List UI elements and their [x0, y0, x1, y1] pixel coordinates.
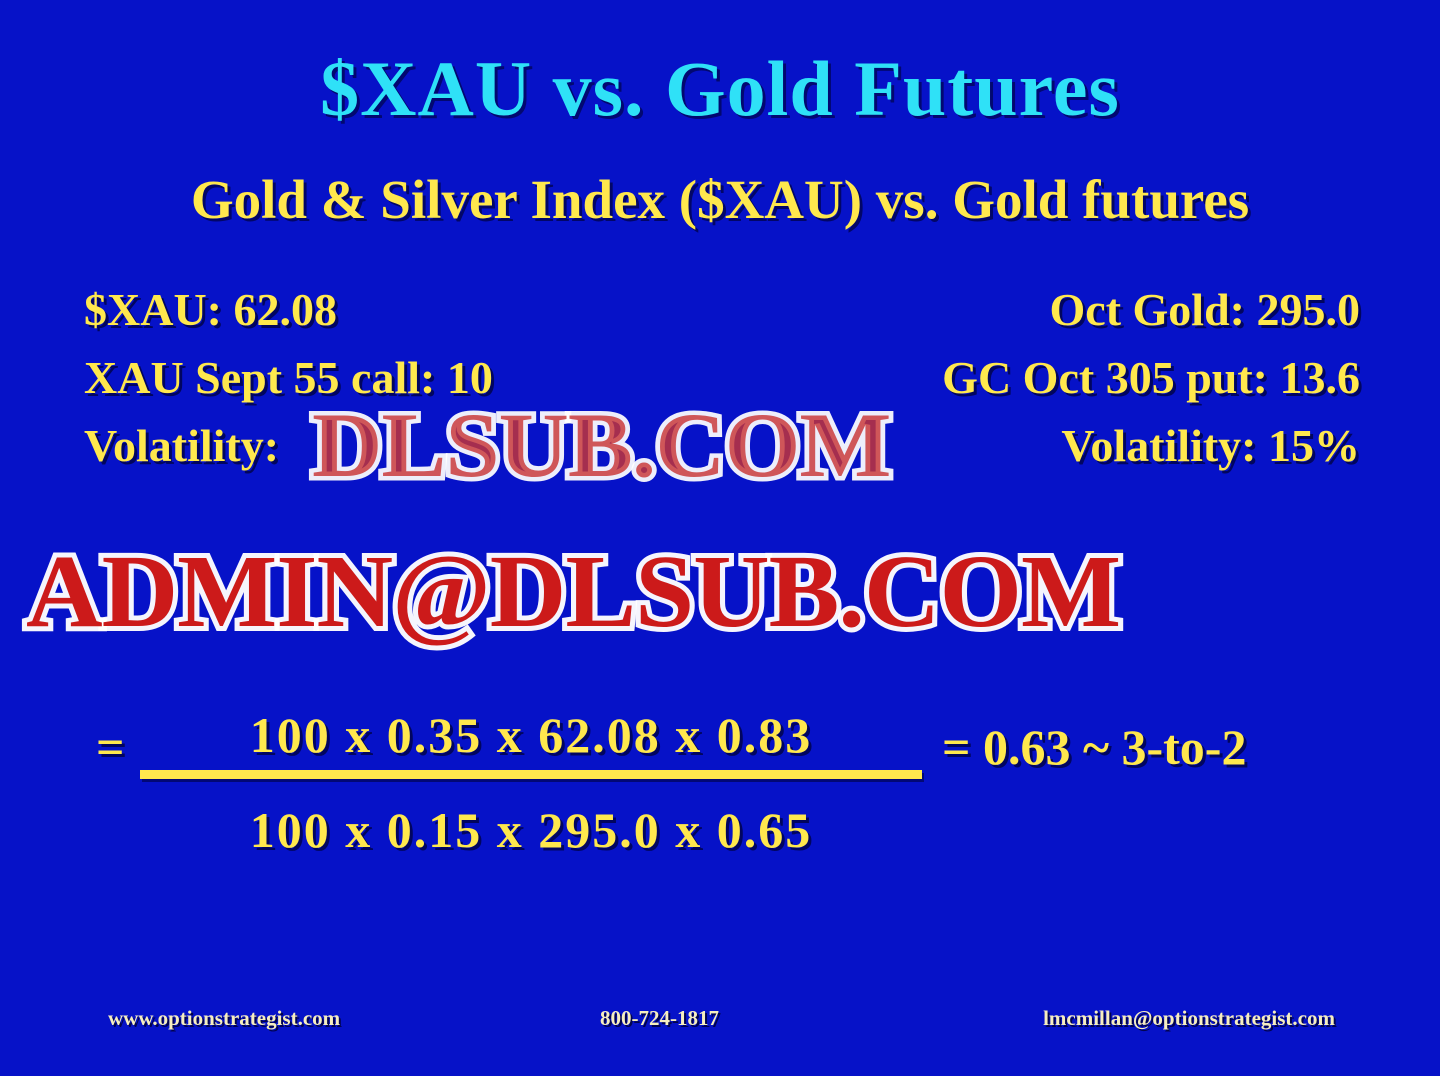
quote-right-volatility: Volatility: 15% — [1061, 416, 1360, 476]
footer-email: lmcmillan@optionstrategist.com — [1043, 1006, 1335, 1031]
fraction-bar — [140, 770, 922, 779]
equation-numerator: 100 x 0.35 x 62.08 x 0.83 — [140, 706, 922, 770]
table-row: XAU Sept 55 call: 10 GC Oct 305 put: 13.… — [84, 348, 1360, 416]
equation-equals-sign: = — [96, 718, 125, 776]
equation-result: = 0.63 ~ 3-to-2 — [942, 718, 1246, 776]
ratio-equation: = 100 x 0.35 x 62.08 x 0.83 100 x 0.15 x… — [0, 706, 1440, 886]
slide-footer: www.optionstrategist.com 800-724-1817 lm… — [0, 1006, 1440, 1036]
slide-canvas: $XAU vs. Gold Futures Gold & Silver Inde… — [0, 0, 1440, 1076]
page-title: $XAU vs. Gold Futures — [0, 44, 1440, 134]
equation-fraction: 100 x 0.35 x 62.08 x 0.83 100 x 0.15 x 2… — [140, 706, 922, 859]
watermark-admin-email: ADMIN@DLSUB.COM — [26, 532, 1120, 651]
equation-denominator: 100 x 0.15 x 295.0 x 0.65 — [140, 779, 922, 859]
quote-right-gc-put: GC Oct 305 put: 13.6 — [942, 348, 1360, 408]
footer-phone: 800-724-1817 — [600, 1006, 719, 1031]
table-row: Volatility: Volatility: 15% — [84, 416, 1360, 484]
table-row: $XAU: 62.08 Oct Gold: 295.0 — [84, 280, 1360, 348]
footer-website: www.optionstrategist.com — [108, 1006, 340, 1031]
quote-left-volatility: Volatility: — [84, 416, 279, 476]
quote-right-gold-price: Oct Gold: 295.0 — [1050, 280, 1360, 340]
page-subtitle: Gold & Silver Index ($XAU) vs. Gold futu… — [0, 168, 1440, 231]
quote-table: $XAU: 62.08 Oct Gold: 295.0 XAU Sept 55 … — [84, 280, 1360, 484]
quote-left-xau-price: $XAU: 62.08 — [84, 280, 337, 340]
quote-left-xau-call: XAU Sept 55 call: 10 — [84, 348, 493, 408]
